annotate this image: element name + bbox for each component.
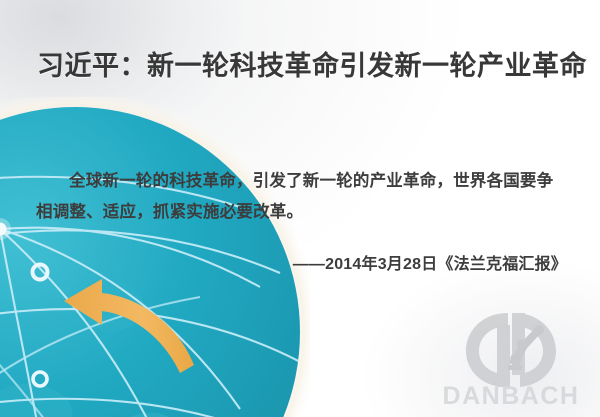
- brand-watermark: DANBACH: [436, 311, 586, 411]
- globe-landmass-shapes: [0, 280, 185, 417]
- robot-arm-glyph: [508, 325, 544, 370]
- globe-artwork: [0, 97, 310, 417]
- quote-body: 全球新一轮的科技革命，引发了新一轮的产业革命，世界各国要争相调整、适应，抓紧实施…: [36, 166, 566, 228]
- watermark-brand-text: DANBACH: [436, 384, 586, 409]
- hub-node: [0, 218, 11, 240]
- ring-node-mid: [33, 372, 47, 386]
- ring-node-upper: [33, 265, 48, 280]
- globe-svg: [0, 97, 310, 417]
- page-title: 习近平：新一轮科技革命引发新一轮产业革命: [37, 44, 587, 83]
- orange-arrow-head: [64, 279, 194, 373]
- globe-halo: [0, 97, 310, 417]
- slide-canvas: 习近平：新一轮科技革命引发新一轮产业革命 全球新一轮的科技革命，引发了新一轮的产…: [0, 0, 600, 417]
- quote-attribution: ——2014年3月28日《法兰克福汇报》: [293, 250, 567, 274]
- background-vignette-bottom-right: [360, 257, 600, 417]
- globe-sphere: [0, 107, 300, 417]
- robot-arm-logo-icon: [464, 311, 558, 389]
- orange-orbit-arc: [0, 281, 264, 417]
